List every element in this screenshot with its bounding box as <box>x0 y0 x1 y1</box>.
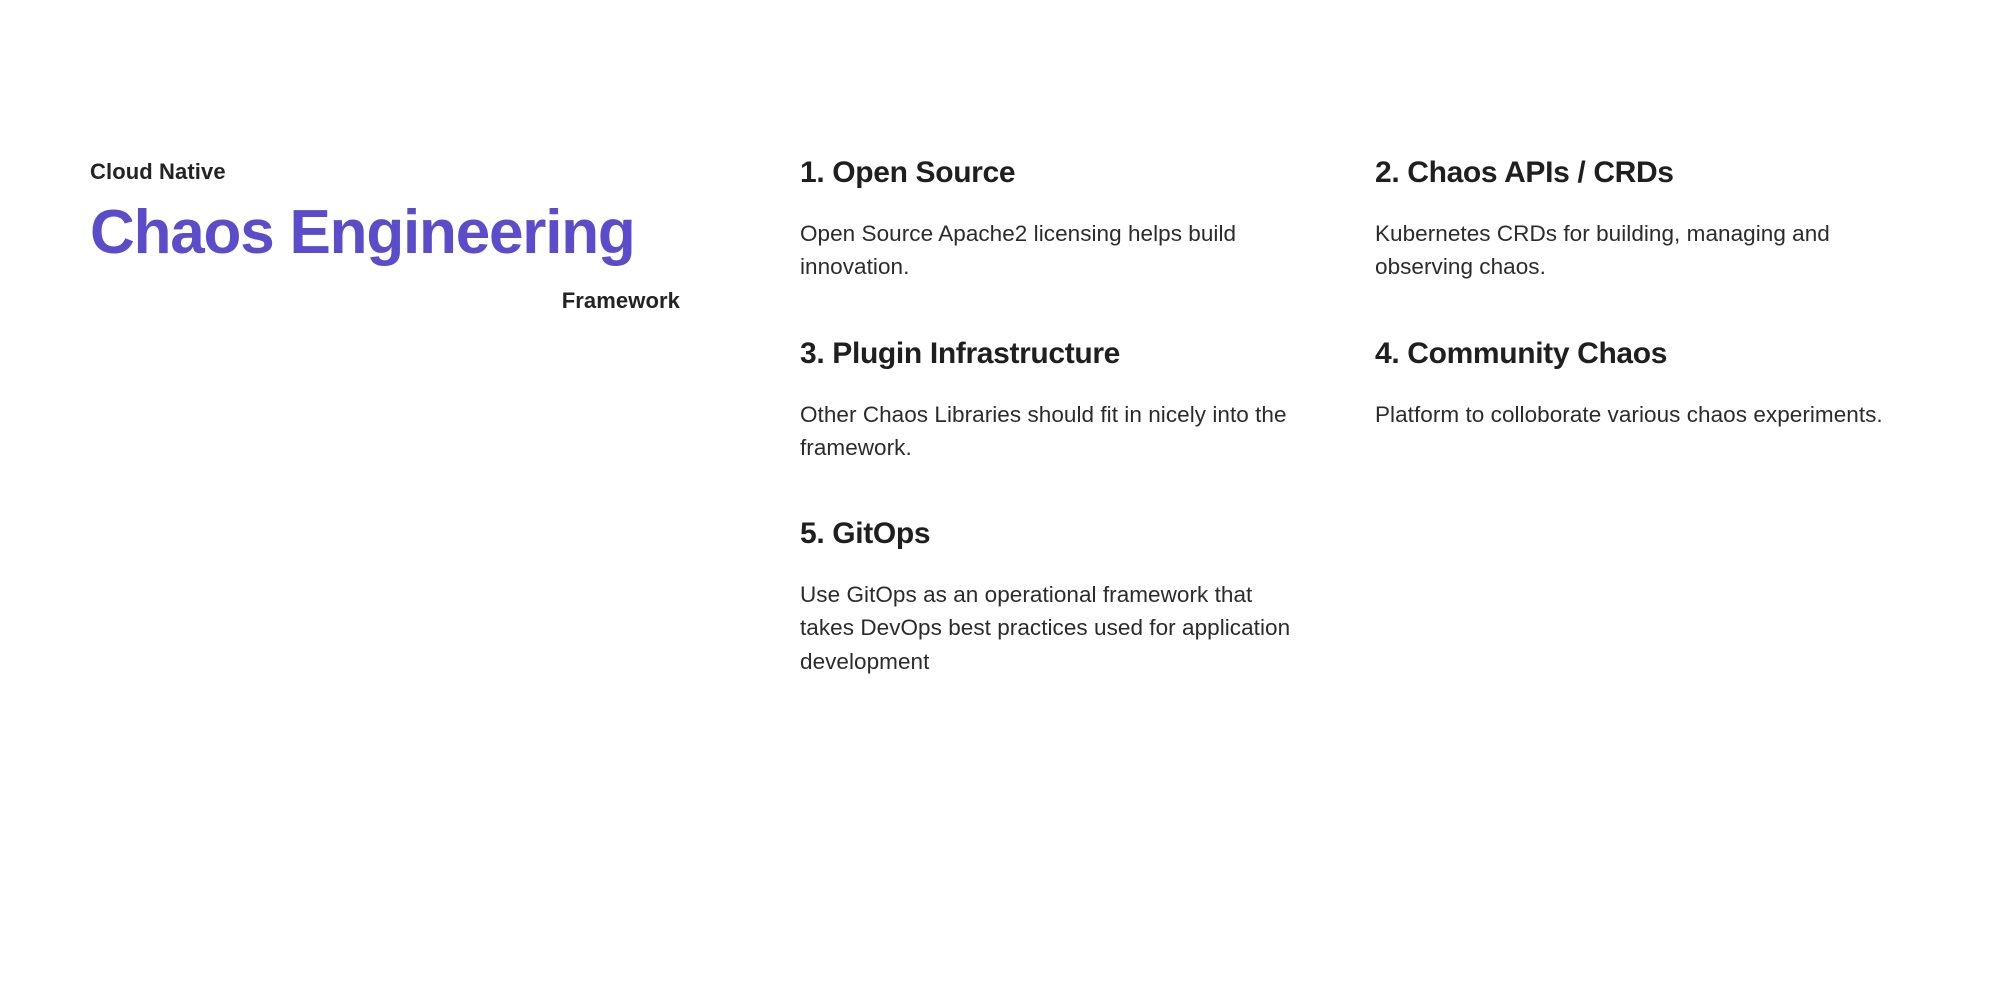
title-subtitle: Framework <box>90 287 680 315</box>
feature-body: Use GitOps as an operational framework t… <box>800 578 1310 678</box>
feature-item-open-source: 1. Open Source Open Source Apache2 licen… <box>800 155 1310 284</box>
feature-title: 3. Plugin Infrastructure <box>800 336 1310 372</box>
feature-item-chaos-apis-crds: 2. Chaos APIs / CRDs Kubernetes CRDs for… <box>1375 155 1920 284</box>
eyebrow-label: Cloud Native <box>90 158 690 186</box>
title-block: Cloud Native Chaos Engineering Framework <box>90 158 690 315</box>
feature-body: Kubernetes CRDs for building, managing a… <box>1375 217 1920 284</box>
feature-item-gitops: 5. GitOps Use GitOps as an operational f… <box>800 516 1310 678</box>
feature-body: Open Source Apache2 licensing helps buil… <box>800 217 1310 284</box>
feature-title: 2. Chaos APIs / CRDs <box>1375 155 1920 191</box>
feature-item-plugin-infrastructure: 3. Plugin Infrastructure Other Chaos Lib… <box>800 336 1310 465</box>
feature-grid: 1. Open Source Open Source Apache2 licen… <box>800 155 1930 730</box>
page-title: Chaos Engineering <box>90 200 690 266</box>
feature-title: 4. Community Chaos <box>1375 336 1920 372</box>
feature-body: Other Chaos Libraries should fit in nice… <box>800 398 1310 465</box>
feature-body: Platform to colloborate various chaos ex… <box>1375 398 1920 431</box>
feature-item-community-chaos: 4. Community Chaos Platform to collobora… <box>1375 336 1920 465</box>
slide-canvas: Cloud Native Chaos Engineering Framework… <box>0 0 2000 1000</box>
feature-title: 5. GitOps <box>800 516 1310 552</box>
feature-title: 1. Open Source <box>800 155 1310 191</box>
